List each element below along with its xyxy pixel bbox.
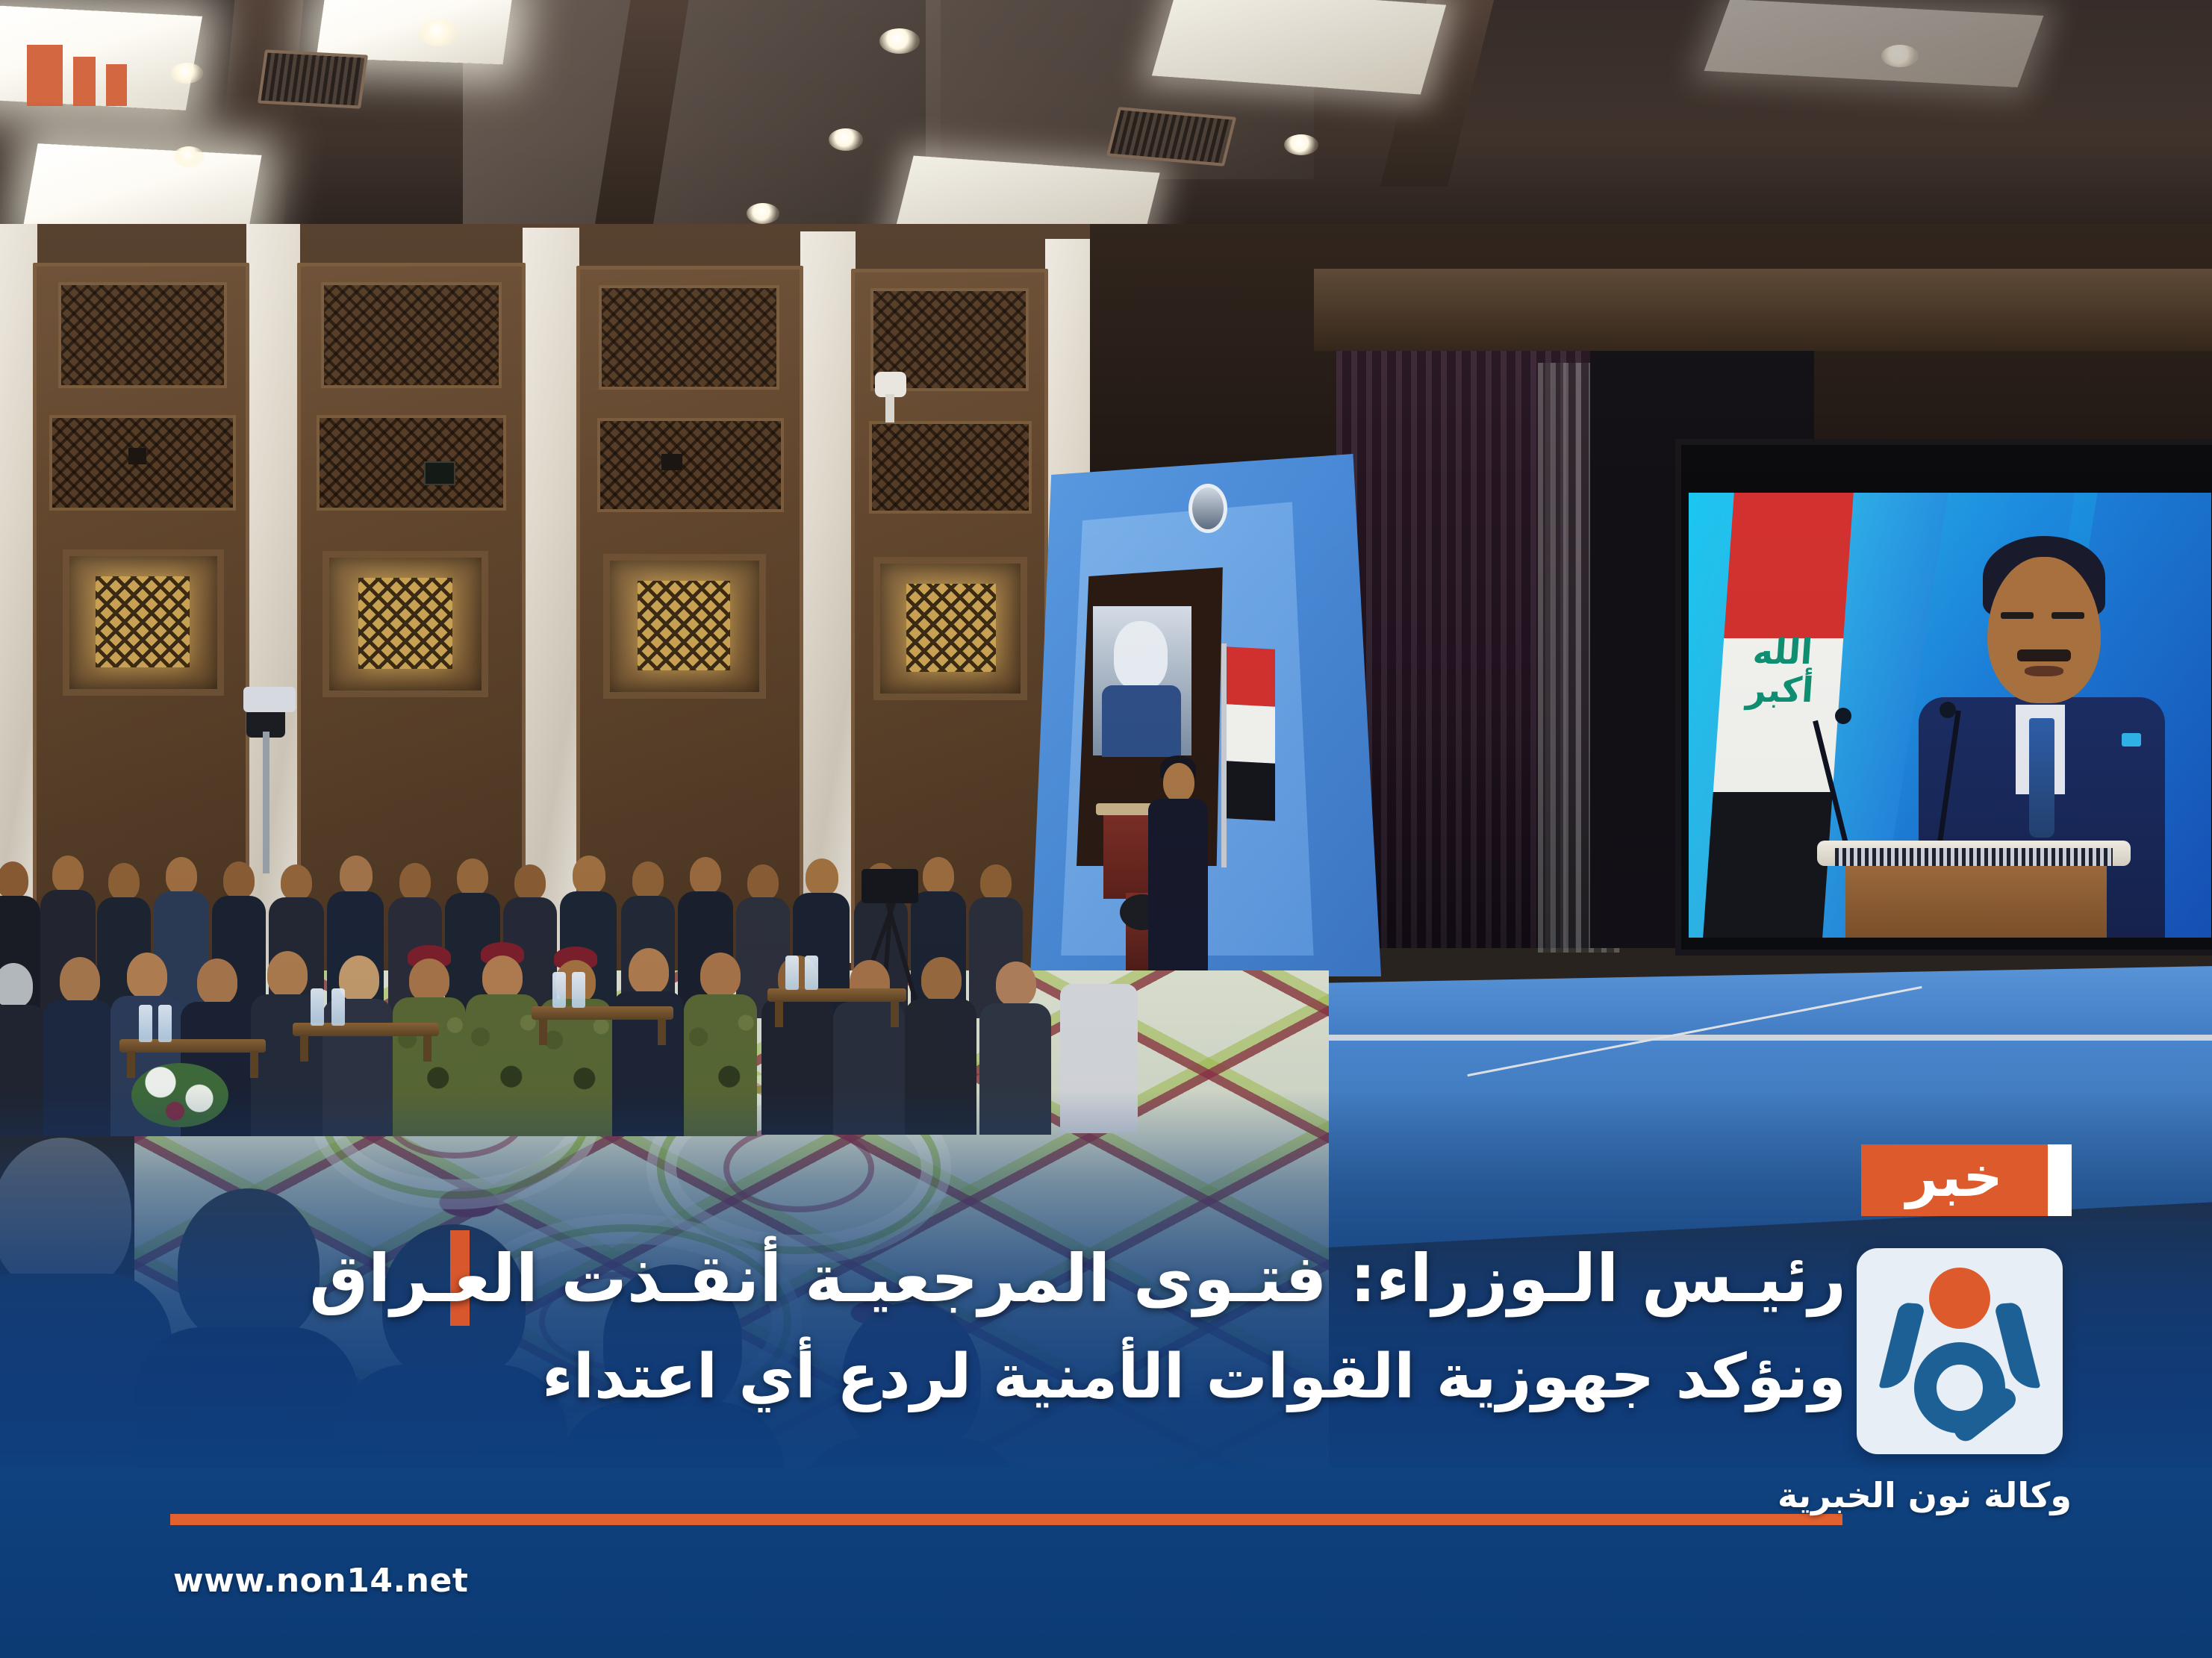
news-badge: خبر	[1861, 1144, 2048, 1216]
website-url[interactable]: www.non14.net	[173, 1562, 468, 1600]
logo-bar-3	[106, 64, 127, 106]
logo-bar-2	[73, 57, 96, 106]
graphic-overlay: خبر رئيـس الـوزراء: فتـوى المرجعيـة أنقـ…	[0, 0, 2212, 1658]
headline-line-1: رئيـس الـوزراء: فتـوى المرجعيـة أنقـذت ا…	[127, 1235, 1846, 1322]
logo-bar-1	[27, 45, 63, 106]
headline-divider	[170, 1514, 1842, 1525]
headline-line-2: ونؤكد جهوزية القوات الأمنية لردع أي اعتد…	[127, 1337, 1846, 1418]
noon-agency-logo-icon[interactable]	[1857, 1248, 2063, 1454]
news-badge-label: خبر	[1906, 1150, 2003, 1205]
news-card: اللهأكبر	[0, 0, 2212, 1658]
agency-name: وكالة نون الخبرية	[1749, 1475, 2100, 1515]
three-bars-logo-icon	[27, 45, 127, 106]
news-badge-tab	[2048, 1144, 2072, 1216]
headline-block: رئيـس الـوزراء: فتـوى المرجعيـة أنقـذت ا…	[127, 1235, 1846, 1418]
